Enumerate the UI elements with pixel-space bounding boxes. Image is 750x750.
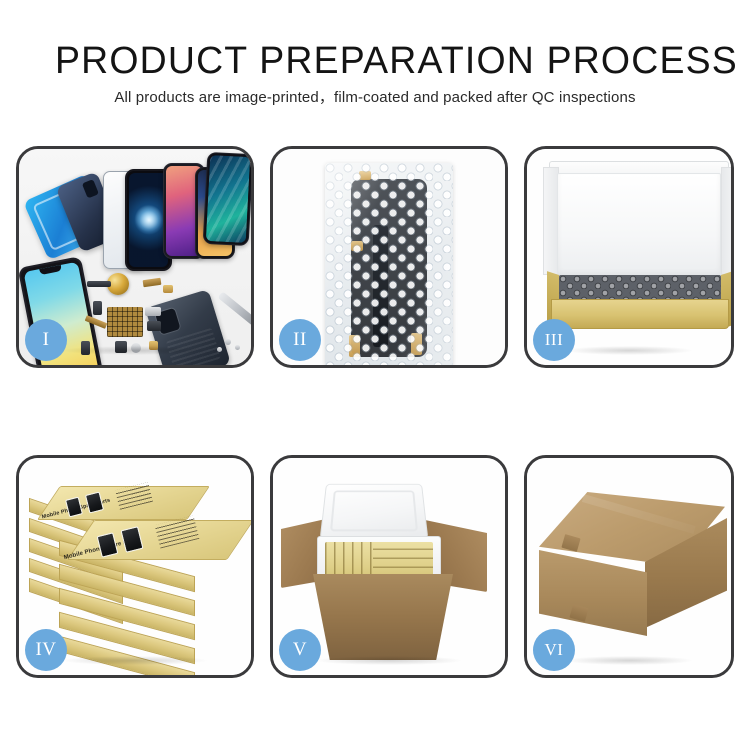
drop-shadow — [63, 346, 207, 355]
logic-board-chip — [107, 307, 143, 337]
step-badge-2: II — [279, 319, 321, 361]
step-badge-4: IV — [25, 629, 67, 671]
carton-front-face — [539, 550, 647, 636]
product-preparation-infographic: PRODUCT PREPARATION PROCESS All products… — [0, 0, 750, 750]
screen-teal-wave — [206, 155, 250, 243]
panel-step-4[interactable]: Mobile Phone Spare Parts Mobile Phone Sp… — [16, 455, 254, 678]
bubble-wrap-bag — [325, 163, 453, 368]
carton-body — [313, 574, 453, 660]
screwdriver-tool — [218, 291, 254, 326]
camera-module-part — [93, 301, 102, 315]
phone-display-teal — [203, 152, 254, 246]
process-step-grid: I II — [0, 0, 750, 750]
panel-step-5[interactable]: V — [270, 455, 508, 678]
step-badge-3: III — [533, 319, 575, 361]
panel-step-1[interactable]: I — [16, 146, 254, 368]
sim-tray-part — [163, 285, 173, 293]
kraft-box-front — [551, 299, 729, 329]
speaker-mesh-part — [87, 281, 111, 287]
screw-set-part — [225, 339, 231, 345]
box-flap-right — [721, 167, 734, 275]
shield-plate-part — [145, 307, 161, 316]
screw-part-3 — [217, 347, 222, 352]
bubble-texture — [325, 163, 453, 368]
step-badge-6: VI — [533, 629, 575, 671]
drop-shadow — [317, 656, 461, 665]
drop-shadow — [566, 346, 692, 355]
drop-shadow — [63, 656, 207, 665]
drop-shadow — [566, 656, 692, 665]
panel-step-2[interactable]: II — [270, 146, 508, 368]
panel-step-3[interactable]: III — [524, 146, 734, 368]
step-badge-5: V — [279, 629, 321, 671]
vibration-motor-part — [147, 321, 161, 331]
step-badge-1: I — [25, 319, 67, 361]
panel-step-6[interactable]: VI — [524, 455, 734, 678]
screw-part-2 — [235, 345, 240, 350]
styrofoam-lid — [320, 484, 429, 540]
flex-cable-part — [143, 278, 162, 287]
white-foam-sheet — [557, 173, 721, 277]
